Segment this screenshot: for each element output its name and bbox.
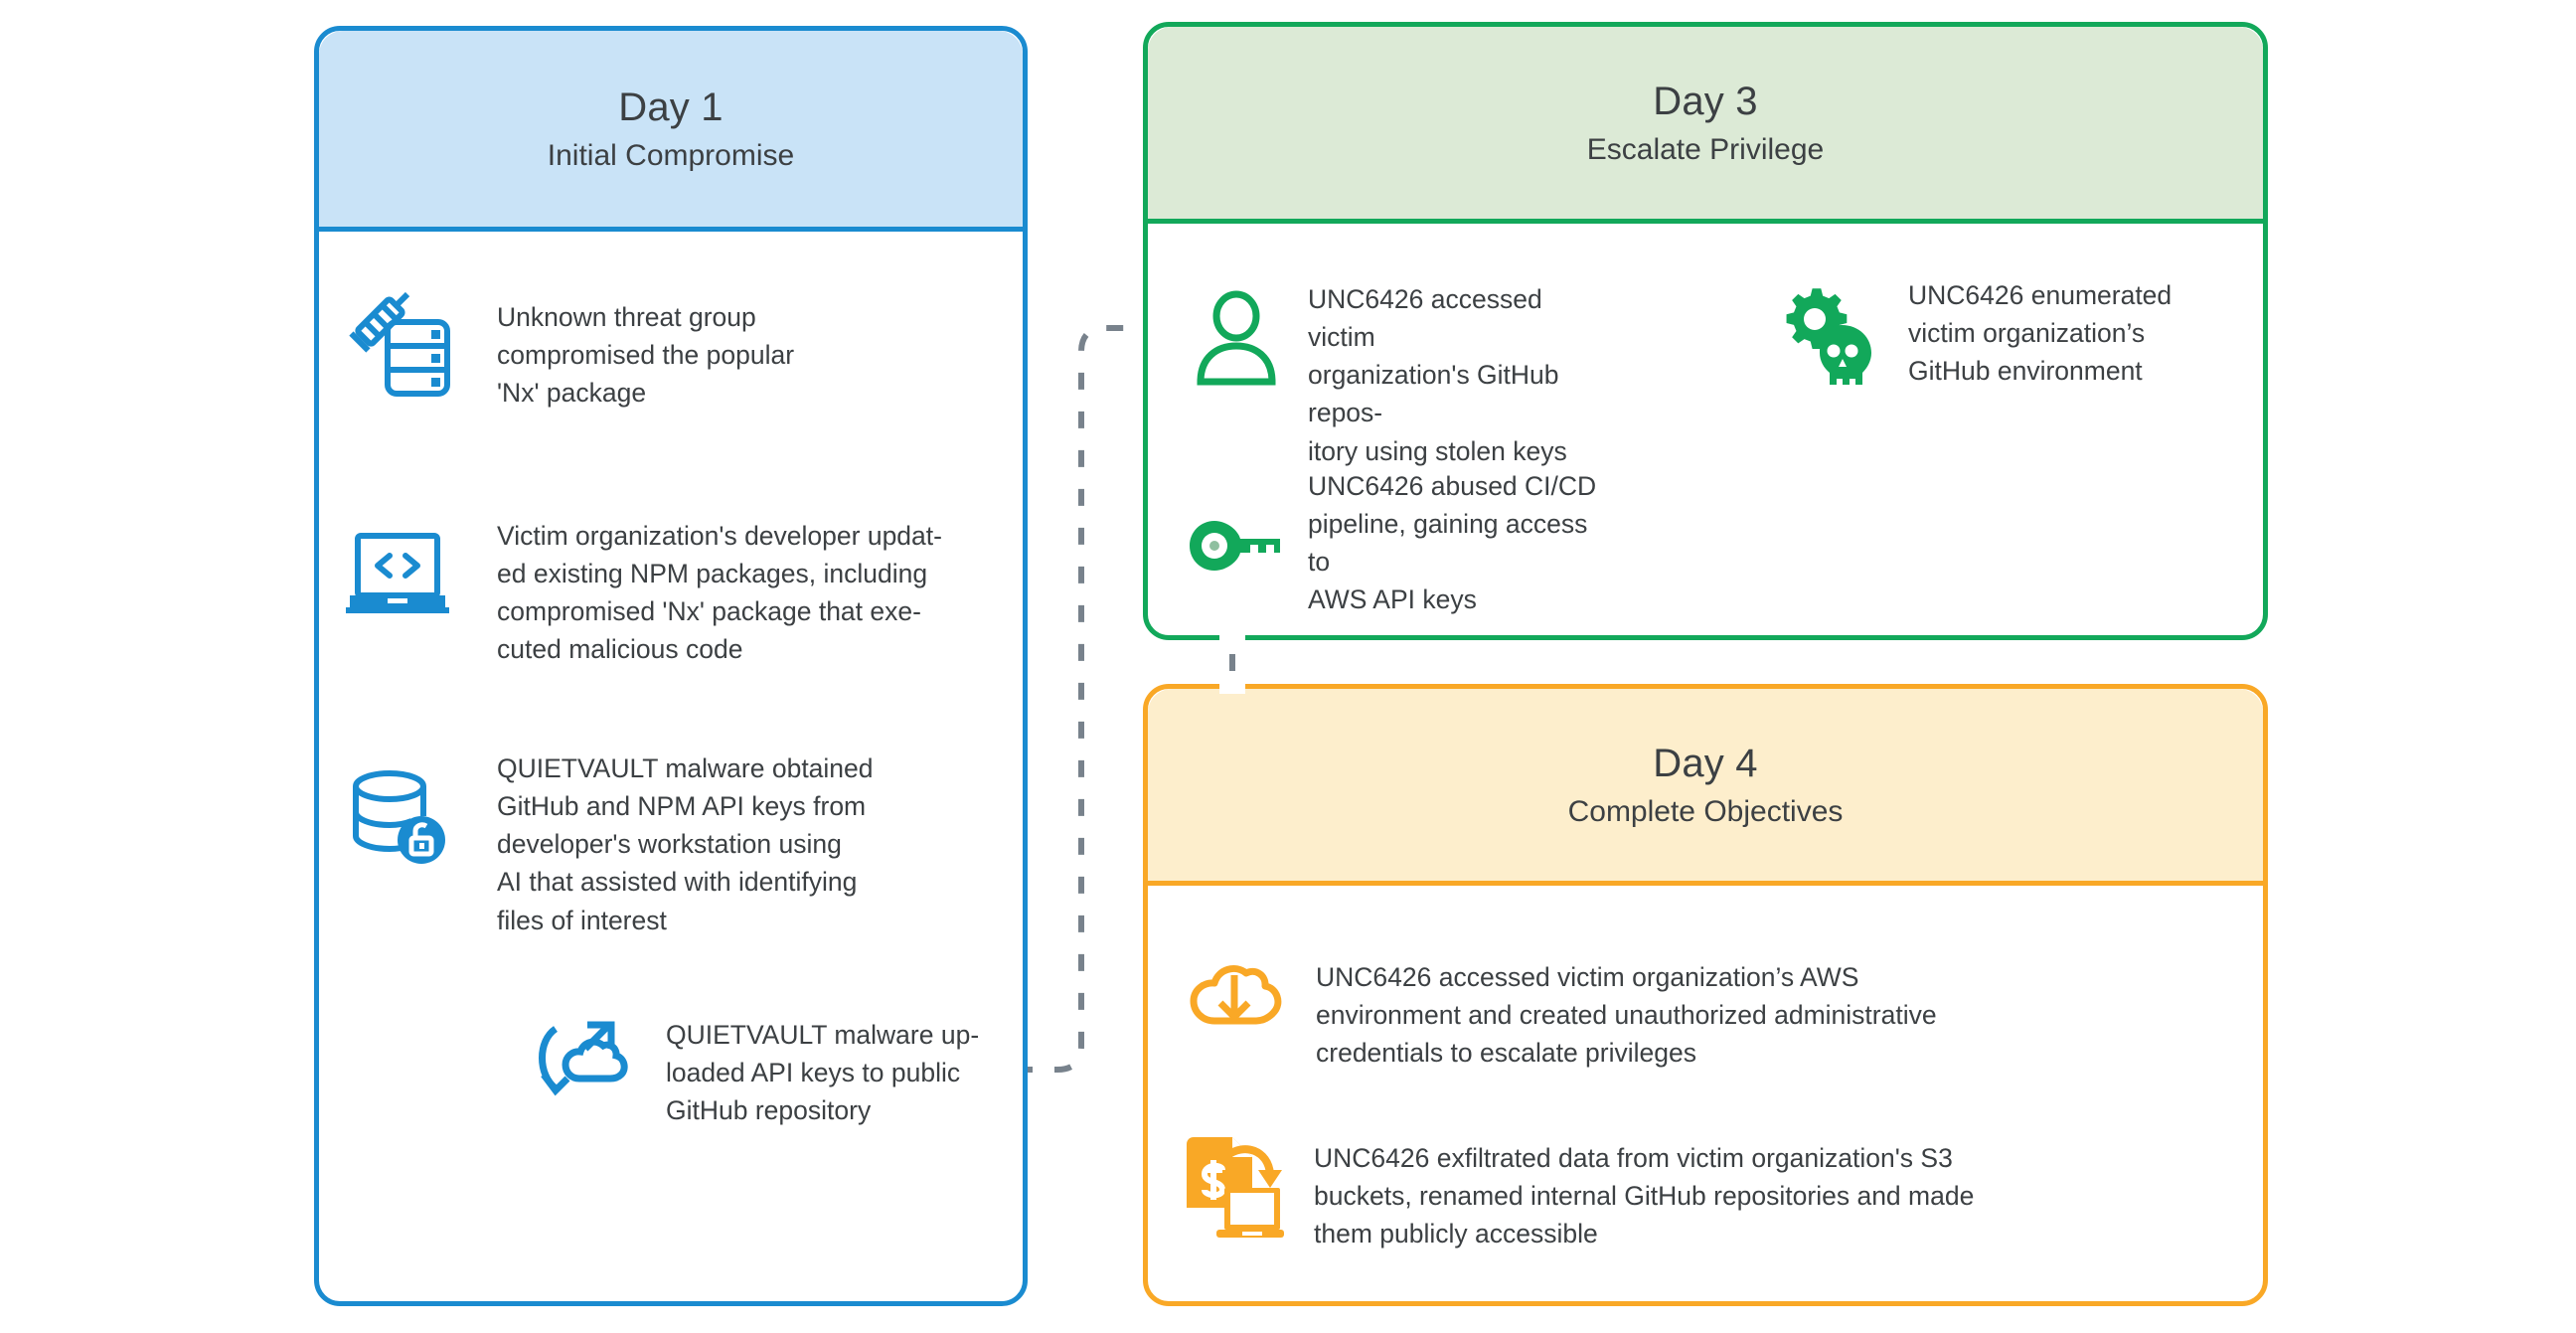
database-unlock-icon: [338, 755, 457, 873]
border-gap-day3-bottom: [1219, 632, 1245, 646]
step-day1-4: QUIETVAULT malware up- loaded API keys t…: [523, 1010, 1030, 1129]
step-day1-3-text: QUIETVAULT malware obtained GitHub and N…: [497, 750, 874, 939]
step-day1-2: Victim organization's developer updat- e…: [338, 521, 1024, 669]
step-day3-3-text: UNC6426 abused CI/CD pipeline, gaining a…: [1308, 467, 1616, 619]
border-gap-day4-top: [1219, 680, 1245, 694]
step-day3-2: UNC6426 enumerated victim organization’s…: [1779, 286, 2246, 390]
gear-skull-icon: [1779, 286, 1882, 390]
document-exfiltration-laptop-icon: [1175, 1135, 1286, 1245]
syringe-server-icon: [338, 284, 457, 404]
panel-day3-phase-label: Escalate Privilege: [1587, 132, 1824, 168]
step-day1-1-text: Unknown threat group compromised the pop…: [497, 298, 794, 412]
panel-day4-phase-label: Complete Objectives: [1568, 794, 1844, 830]
step-day1-3: QUIETVAULT malware obtained GitHub and N…: [338, 755, 1024, 939]
step-day3-2-text: UNC6426 enumerated victim organization’s…: [1908, 276, 2172, 390]
step-day4-2-text: UNC6426 exfiltrated data from victim org…: [1314, 1139, 1974, 1252]
key-icon: [1189, 495, 1284, 594]
user-person-icon: [1189, 288, 1284, 392]
panel-day4-day-label: Day 4: [1653, 741, 1758, 786]
step-day4-1: UNC6426 accessed victim organization’s A…: [1183, 956, 2216, 1072]
step-day4-1-text: UNC6426 accessed victim organization’s A…: [1316, 958, 1937, 1072]
connector-day1-to-day3: [1016, 328, 1153, 1070]
panel-day1-day-label: Day 1: [618, 84, 724, 130]
panel-day1-phase-label: Initial Compromise: [548, 138, 794, 174]
step-day3-1: UNC6426 accessed victim organization's G…: [1189, 288, 1606, 470]
panel-day4-header: Day 4 Complete Objectives: [1148, 689, 2263, 886]
step-day1-2-text: Victim organization's developer updat- e…: [497, 517, 942, 669]
panel-day3-day-label: Day 3: [1653, 79, 1758, 124]
diagram-canvas: Day 1 Initial Compromise: [0, 0, 2576, 1333]
step-day3-3: UNC6426 abused CI/CD pipeline, gaining a…: [1189, 471, 1616, 619]
step-day3-1-text: UNC6426 accessed victim organization's G…: [1308, 280, 1606, 470]
step-day4-2: UNC6426 exfiltrated data from victim org…: [1175, 1135, 2228, 1252]
step-day1-1: Unknown threat group compromised the pop…: [338, 284, 1014, 412]
cloud-download-icon: [1183, 956, 1286, 1052]
cloud-upload-sync-icon: [523, 1010, 640, 1119]
step-day1-4-text: QUIETVAULT malware up- loaded API keys t…: [666, 1016, 979, 1129]
laptop-code-icon: [338, 521, 457, 630]
panel-day1-header: Day 1 Initial Compromise: [319, 31, 1023, 232]
panel-day3-header: Day 3 Escalate Privilege: [1148, 27, 2263, 224]
